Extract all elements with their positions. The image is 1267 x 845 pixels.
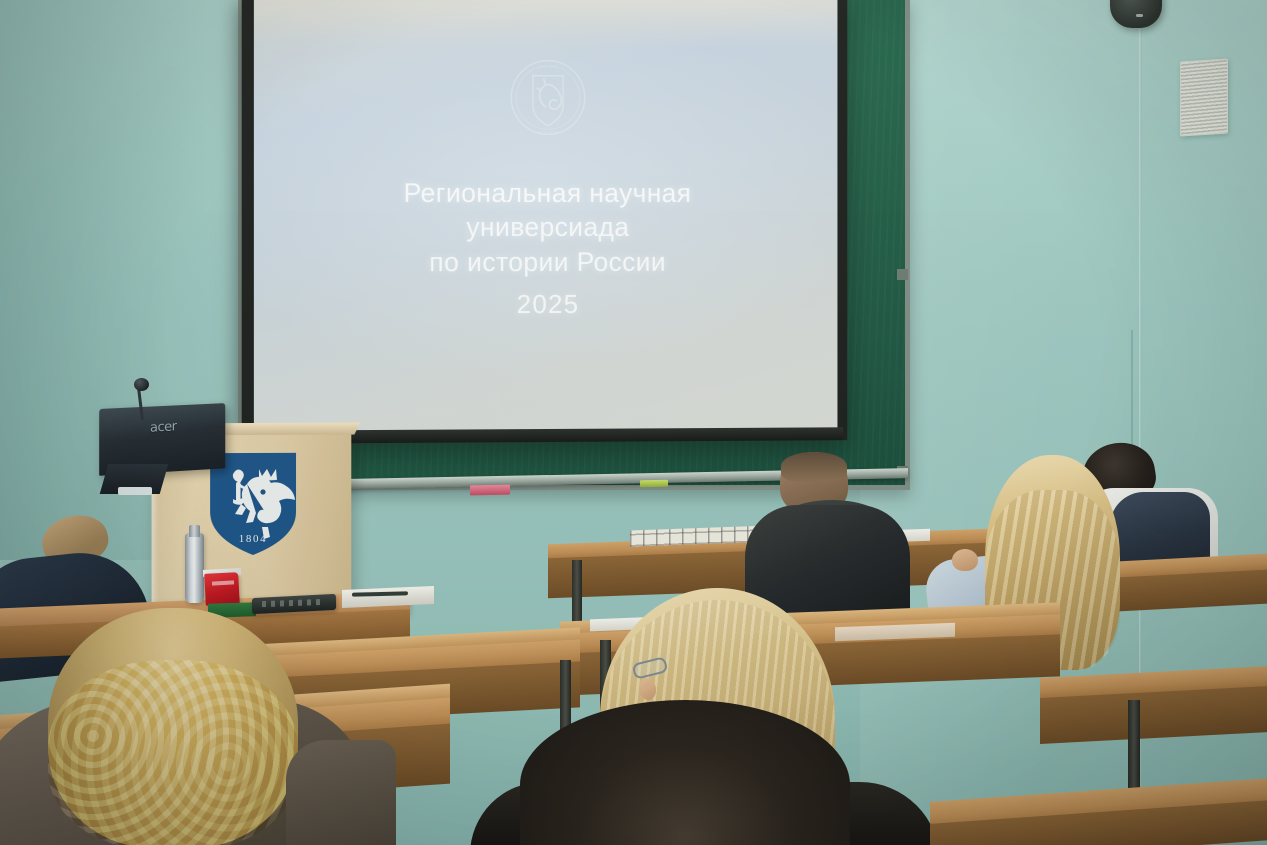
microphone-icon xyxy=(134,378,149,391)
thermos-bottle-cap xyxy=(189,525,200,537)
slide-title-line-3: по истории России xyxy=(404,245,692,280)
lecture-hall-photo: ★ ★ ★ ★ ★ ★ ★ ★ Региональная научная уни… xyxy=(0,0,1267,845)
svg-text:★ ★ ★ ★: ★ ★ ★ ★ xyxy=(539,129,557,134)
speaker-led-icon xyxy=(1136,14,1143,17)
presentation-slide: ★ ★ ★ ★ ★ ★ ★ ★ Региональная научная уни… xyxy=(254,0,838,432)
slide-title: Региональная научная универсиада по исто… xyxy=(404,176,692,280)
person-hair-texture xyxy=(48,660,298,845)
thermos-bottle[interactable] xyxy=(185,533,204,603)
snack-package[interactable] xyxy=(204,572,240,606)
laptop-brand-label: acer xyxy=(150,419,176,435)
projection-screen: ★ ★ ★ ★ ★ ★ ★ ★ Региональная научная уни… xyxy=(242,0,848,444)
eraser-icon xyxy=(470,485,510,496)
slide-year: 2025 xyxy=(517,289,580,320)
university-seal-icon: ★ ★ ★ ★ ★ ★ ★ ★ xyxy=(505,54,591,146)
svg-text:★ ★ ★ ★: ★ ★ ★ ★ xyxy=(539,64,557,69)
person-hair xyxy=(781,452,847,482)
podium-emblem-year: 1804 xyxy=(239,533,267,545)
person-hand xyxy=(952,549,978,571)
projection-screen-surface: ★ ★ ★ ★ ★ ★ ★ ★ Региональная научная уни… xyxy=(254,0,838,432)
ventilation-grille-icon xyxy=(1180,59,1228,137)
marker-icon xyxy=(640,480,668,487)
person-arm xyxy=(286,740,396,845)
slide-title-line-2: универсиада xyxy=(404,210,692,245)
chalkboard-bracket-top-right xyxy=(897,269,908,280)
laptop-stand xyxy=(118,487,152,495)
slide-title-line-1: Региональная научная xyxy=(404,176,692,211)
